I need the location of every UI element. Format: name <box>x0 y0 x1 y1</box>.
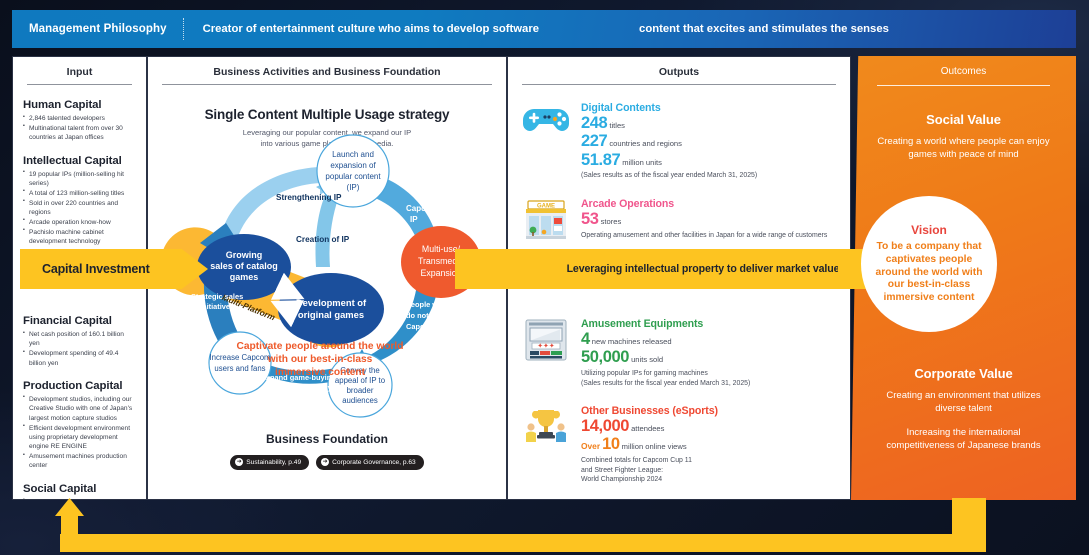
svg-text:✦✦✦: ✦✦✦ <box>537 342 555 350</box>
svg-text:GAME: GAME <box>537 203 555 209</box>
output-unit: titles <box>609 121 625 130</box>
slot-machine-icon: ✦✦✦ <box>522 317 570 388</box>
output-note: Operating amusement and other facilities… <box>581 231 836 241</box>
svg-text:Growing: Growing <box>226 250 263 260</box>
svg-text:with our best-in-class: with our best-in-class <box>267 354 373 365</box>
outcome-social-value: Social Value Creating a world where peop… <box>851 112 1076 162</box>
list-item: Efficient development environment using … <box>23 424 136 452</box>
cycle-diagram: Launch and expansion of popular content … <box>148 127 507 427</box>
output-unit: countries and regions <box>609 139 682 148</box>
input-capital-group-top: Human Capital 2,846 talented developers … <box>13 85 146 246</box>
svg-text:Capcom: Capcom <box>406 322 436 331</box>
output-body: Digital Contents 248titles 227countries … <box>581 101 836 181</box>
output-digital-contents: Digital Contents 248titles 227countries … <box>508 101 850 181</box>
outcome-heading: Social Value <box>873 112 1054 127</box>
output-body: Arcade Operations 53stores Operating amu… <box>581 197 836 241</box>
svg-text:Development of: Development of <box>296 297 367 308</box>
column-header-middle: Business Activities and Business Foundat… <box>148 57 506 84</box>
output-stat-line: 248titles <box>581 115 836 132</box>
output-stat-line: 14,000attendees <box>581 418 836 435</box>
capital-title-production: Production Capital <box>23 380 136 392</box>
outcome-text: Creating a world where people can enjoy … <box>873 135 1054 162</box>
banner-divider <box>183 18 184 40</box>
output-value: 14,000 <box>581 417 629 435</box>
arrow-label-strengthening: Strengthening IP <box>276 193 342 202</box>
capital-list-production: Development studios, including our Creat… <box>23 395 136 471</box>
svg-text:IP: IP <box>410 215 418 224</box>
svg-text:users and fans: users and fans <box>214 364 265 373</box>
output-value: 248 <box>581 114 607 132</box>
output-title: Other Businesses (eSports) <box>581 405 836 417</box>
vision-text: To be a company that captivates people a… <box>861 241 997 305</box>
output-amusement-equipments: ✦✦✦ Amusement Equipments 4new machines r… <box>508 317 850 388</box>
output-unit: new machines released <box>592 337 672 346</box>
outcome-text-1: Creating an environment that utilizes di… <box>873 389 1054 416</box>
list-item: Sold in over 220 countries and regions <box>23 199 136 218</box>
arrow-right-icon: ➜ <box>321 458 329 466</box>
output-body: Other Businesses (eSports) 14,000attende… <box>581 404 836 485</box>
output-value: 51.87 <box>581 151 620 169</box>
arrow-label-strategic: Strategic sales <box>191 292 243 301</box>
svg-text:immersive content: immersive content <box>275 367 366 378</box>
output-unit: million units <box>622 158 662 167</box>
output-title: Arcade Operations <box>581 198 836 210</box>
capital-investment-label: Capital Investment <box>20 262 150 276</box>
arrow-right-icon: ➜ <box>235 458 243 466</box>
pill-label: Corporate Governance, p.63 <box>332 459 416 466</box>
gamepad-icon <box>522 101 570 181</box>
vision-circle: Vision To be a company that captivates p… <box>861 196 997 332</box>
business-foundation-title: Business Foundation <box>148 432 506 446</box>
cycle-center-text: Captivate people around the world <box>237 341 404 352</box>
strategy-title: Single Content Multiple Usage strategy <box>148 107 506 122</box>
output-stat-line: 51.87million units <box>581 152 836 169</box>
capital-list-intellectual: 19 popular IPs (million-selling hit seri… <box>23 170 136 247</box>
svg-text:do not know: do not know <box>406 311 450 320</box>
header-rule-middle <box>162 84 492 85</box>
pill-corporate-governance[interactable]: ➜ Corporate Governance, p.63 <box>316 455 424 470</box>
pill-label: Sustainability, p.49 <box>246 459 301 466</box>
output-unit: million online views <box>622 442 687 451</box>
output-prefix: Over <box>581 441 600 451</box>
outcome-corporate-value: Corporate Value Creating an environment … <box>851 366 1076 453</box>
capital-title-intellectual: Intellectual Capital <box>23 155 136 167</box>
output-note: Combined totals for Capcom Cup 11 and St… <box>581 456 836 485</box>
header-rule-outputs <box>522 84 836 85</box>
output-arcade-operations: GAME Arcade Operat <box>508 197 850 241</box>
list-item: Arcade operation know-how <box>23 218 136 227</box>
header-rule-outcomes <box>877 85 1050 86</box>
svg-text:audiences: audiences <box>342 396 378 405</box>
node-launch-label-1: Launch and <box>332 150 374 159</box>
svg-text:sales of catalog: sales of catalog <box>210 261 278 271</box>
capital-title-human: Human Capital <box>23 99 136 111</box>
capital-title-social: Social Capital <box>23 483 136 495</box>
column-header-input: Input <box>13 57 146 84</box>
output-unit: attendees <box>631 424 664 433</box>
yellow-connector-nub <box>455 249 515 289</box>
svg-text:(IP): (IP) <box>347 183 360 192</box>
outcome-text-2: Increasing the international competitive… <box>873 426 1054 453</box>
arcade-storefront-icon: GAME <box>522 197 570 241</box>
output-unit: stores <box>601 217 622 226</box>
svg-text:Increase Capcom: Increase Capcom <box>209 353 270 362</box>
banner-text-2: content that excites and stimulates the … <box>639 23 889 35</box>
outcome-heading: Corporate Value <box>873 366 1054 381</box>
output-value: 4 <box>581 330 590 348</box>
svg-text:popular content: popular content <box>325 172 381 181</box>
output-stat-line: Over10million online views <box>581 436 836 453</box>
output-stat-line: 227countries and regions <box>581 133 836 150</box>
output-value: 53 <box>581 210 599 228</box>
arrow-label-people: People who <box>406 300 448 309</box>
output-unit: units sold <box>631 355 663 364</box>
output-body: Amusement Equipments 4new machines relea… <box>581 317 836 388</box>
list-item: Amusement machines production center <box>23 452 136 471</box>
capital-title-financial: Financial Capital <box>23 315 136 327</box>
capital-investment-arrow: Capital Investment <box>20 249 208 289</box>
list-item: Net cash position of 160.1 billion yen <box>23 330 136 349</box>
svg-text:original games: original games <box>298 309 364 320</box>
svg-text:games: games <box>230 272 259 282</box>
infographic-root: Management Philosophy Creator of enterta… <box>0 0 1089 555</box>
svg-text:broader: broader <box>347 386 374 395</box>
column-header-outcomes: Outcomes <box>851 56 1076 83</box>
list-item: Pachislo machine cabinet development tec… <box>23 228 136 247</box>
svg-text:initiatives: initiatives <box>200 302 234 311</box>
arrow-label-capcom-ip: Capcom <box>406 204 438 213</box>
list-item: 19 popular IPs (million-selling hit seri… <box>23 170 136 189</box>
banner-tag: Management Philosophy <box>12 23 167 35</box>
output-stat-line: 4new machines released <box>581 331 836 348</box>
output-value: 227 <box>581 132 607 150</box>
list-item: 2,846 talented developers <box>23 114 136 123</box>
management-philosophy-banner: Management Philosophy Creator of enterta… <box>12 10 1076 48</box>
output-stat-line: 53stores <box>581 211 836 228</box>
trophy-esports-icon <box>522 404 570 485</box>
vision-heading: Vision <box>911 223 947 237</box>
list-item: Development studios, including our Creat… <box>23 395 136 423</box>
output-title: Digital Contents <box>581 102 836 114</box>
output-stat-line: 50,000units sold <box>581 349 836 366</box>
leveraging-ip-label: Leveraging intellectual property to deli… <box>567 263 840 275</box>
capital-list-financial: Net cash position of 160.1 billion yen D… <box>23 330 136 368</box>
panel-business-activities: Business Activities and Business Foundat… <box>147 56 507 500</box>
list-item: Multinational talent from over 30 countr… <box>23 124 136 143</box>
svg-text:population globally: population globally <box>264 383 333 392</box>
pill-sustainability[interactable]: ➜ Sustainability, p.49 <box>230 455 309 470</box>
svg-text:expansion of: expansion of <box>330 161 376 170</box>
input-capital-group-bottom: Financial Capital Net cash position of 1… <box>13 303 146 500</box>
feedback-loop-arrow <box>0 498 1089 555</box>
output-value: 10 <box>602 435 620 453</box>
list-item: Development spending of 49.4 billion yen <box>23 349 136 368</box>
output-other-businesses: Other Businesses (eSports) 14,000attende… <box>508 404 850 485</box>
capital-list-human: 2,846 talented developers Multinational … <box>23 114 136 143</box>
output-note: Utilizing popular IPs for gaming machine… <box>581 369 836 388</box>
business-foundation-links: ➜ Sustainability, p.49 ➜ Corporate Gover… <box>148 455 506 470</box>
list-item: A total of 123 million-selling titles <box>23 189 136 198</box>
column-header-outputs: Outputs <box>508 57 850 84</box>
output-value: 50,000 <box>581 348 629 366</box>
arrow-label-creation: Creation of IP <box>296 235 350 244</box>
output-title: Amusement Equipments <box>581 318 836 330</box>
output-note: (Sales results as of the fiscal year end… <box>581 171 836 181</box>
banner-text-1: Creator of entertainment culture who aim… <box>203 23 539 35</box>
